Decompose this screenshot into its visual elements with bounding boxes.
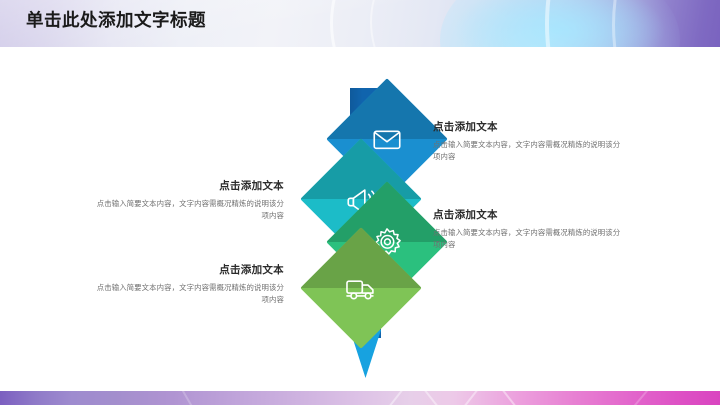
text-block-body: 点击输入简要文本内容，文字内容需概况精炼的说明该分项内容 — [96, 198, 284, 222]
page-title[interactable]: 单击此处添加文字标题 — [26, 13, 206, 31]
text-block-left-1[interactable]: 点击添加文本 点击输入简要文本内容，文字内容需概况精炼的说明该分项内容 — [96, 180, 284, 222]
slide-canvas: 单击此处添加文字标题 — [0, 0, 720, 405]
text-block-body: 点击输入简要文本内容，文字内容需概况精炼的说明该分项内容 — [433, 227, 623, 251]
text-block-right-1[interactable]: 点击添加文本 点击输入简要文本内容，文字内容需概况精炼的说明该分项内容 — [433, 121, 623, 163]
footer-streak-decoration — [451, 391, 491, 405]
slide-footer-band — [0, 391, 720, 405]
footer-streak-decoration — [376, 391, 416, 405]
footer-streak-decoration — [489, 391, 529, 405]
diagram-node-4[interactable] — [318, 245, 404, 331]
text-block-body: 点击输入简要文本内容，文字内容需概况精炼的说明该分项内容 — [433, 139, 623, 163]
text-block-title: 点击添加文本 — [96, 264, 284, 278]
text-block-body: 点击输入简要文本内容，文字内容需概况精炼的说明该分项内容 — [96, 282, 284, 306]
footer-streak-decoration — [411, 391, 451, 405]
text-block-title: 点击添加文本 — [96, 180, 284, 194]
text-block-title: 点击添加文本 — [433, 209, 623, 223]
text-block-title: 点击添加文本 — [433, 121, 623, 135]
footer-streak-decoration — [171, 391, 204, 405]
truck-icon — [318, 245, 404, 331]
text-block-right-2[interactable]: 点击添加文本 点击输入简要文本内容，文字内容需概况精炼的说明该分项内容 — [433, 209, 623, 251]
text-block-left-2[interactable]: 点击添加文本 点击输入简要文本内容，文字内容需概况精炼的说明该分项内容 — [96, 264, 284, 306]
footer-streak-decoration — [620, 391, 661, 405]
